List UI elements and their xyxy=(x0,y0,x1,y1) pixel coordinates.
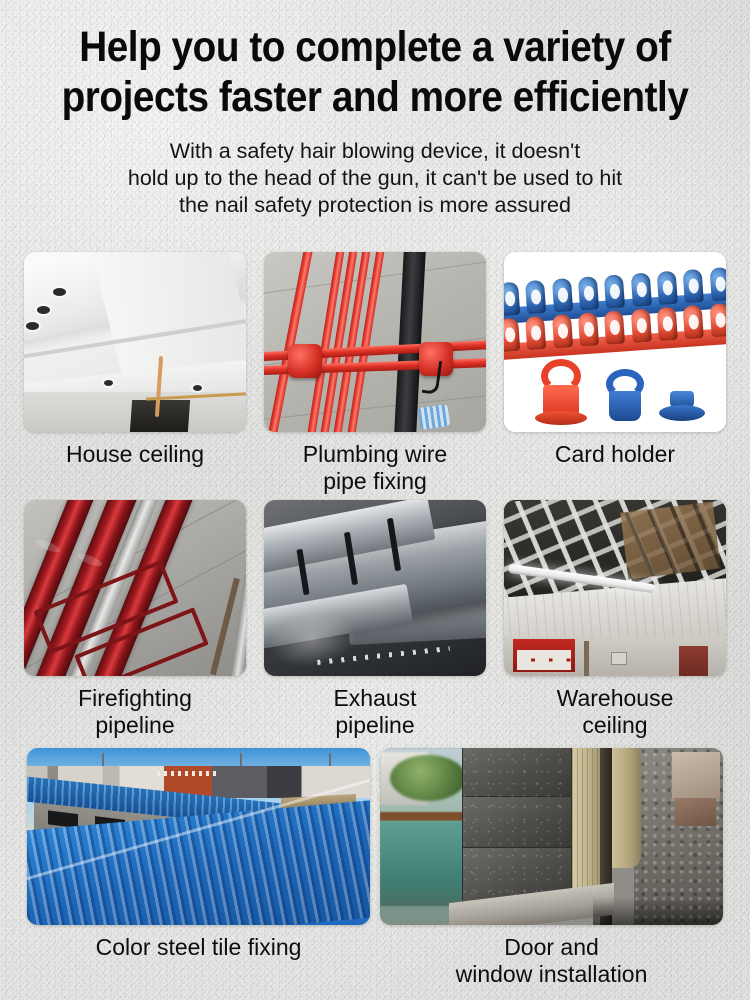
gallery-item-card-holder[interactable]: Card holder xyxy=(504,252,726,495)
cap-flange xyxy=(659,405,705,421)
gallery-item-exhaust-pipeline[interactable]: Exhaust pipeline xyxy=(264,500,486,739)
photo-house-ceiling xyxy=(24,252,246,432)
pipe-clip-icon xyxy=(709,303,726,337)
pipe-clip-icon xyxy=(552,278,573,312)
gallery-item-house-ceiling[interactable]: House ceiling xyxy=(24,252,246,495)
red-clamp-fitting xyxy=(288,344,322,378)
gallery-row-2: Firefighting pipeline Exhaust pipeline xyxy=(0,500,750,739)
block-texture xyxy=(462,748,572,907)
caption-firefighting-pipeline: Firefighting pipeline xyxy=(78,685,192,739)
wood-ceiling-panels xyxy=(620,502,721,580)
subtitle-line-1: With a safety hair blowing device, it do… xyxy=(0,138,750,165)
gallery-item-plumbing-wire-pipe-fixing[interactable]: Plumbing wire pipe fixing xyxy=(264,252,486,495)
wall-patch xyxy=(675,798,716,826)
pipe-clip-icon xyxy=(578,276,599,310)
gallery-item-door-window-installation[interactable]: Door and window installation xyxy=(380,748,723,988)
gallery-row-3: Color steel tile fixing xyxy=(0,748,750,988)
photo-card-holder xyxy=(504,252,726,432)
support-post xyxy=(584,641,589,676)
downlight-icon xyxy=(53,288,66,296)
caption-card-holder: Card holder xyxy=(555,441,675,468)
photo-plumbing-wire-pipe-fixing xyxy=(264,252,486,432)
shadow xyxy=(593,897,723,925)
gallery-item-firefighting-pipeline[interactable]: Firefighting pipeline xyxy=(24,500,246,739)
warehouse-door xyxy=(679,646,708,676)
red-clip-holder-sample xyxy=(535,359,587,421)
pipe-clip-icon xyxy=(525,280,546,314)
caption-door-window-installation: Door and window installation xyxy=(456,934,648,988)
blue-clip-holder-sample xyxy=(602,369,648,421)
clip-base-flange xyxy=(535,411,587,425)
page-subtitle: With a safety hair blowing device, it do… xyxy=(0,138,750,219)
photo-color-steel-tile-fixing xyxy=(27,748,370,925)
pipe-clip-icon xyxy=(657,271,678,305)
wall-control-box xyxy=(611,652,627,665)
pipe-clip-icon xyxy=(578,312,599,346)
gallery-row-1: House ceiling Plumbing wire pipe f xyxy=(0,252,750,495)
pipe-clip-icon xyxy=(683,269,704,303)
concrete-seam xyxy=(264,391,486,424)
downlight-icon xyxy=(104,380,113,386)
wall-patch xyxy=(672,752,720,798)
pipe-clip-icon xyxy=(504,282,520,316)
caption-plumbing-wire-pipe-fixing: Plumbing wire pipe fixing xyxy=(303,441,447,495)
pipe-clip-icon xyxy=(630,309,651,343)
gallery-item-color-steel-tile-fixing[interactable]: Color steel tile fixing xyxy=(27,748,370,988)
pipe-clip-icon xyxy=(552,314,573,348)
pipe-clip-icon xyxy=(683,305,704,339)
tree xyxy=(390,755,465,801)
headline-line-2: projects faster and more efficiently xyxy=(38,72,713,122)
water-surface xyxy=(380,821,469,906)
photo-firefighting-pipeline xyxy=(24,500,246,676)
photo-door-window-installation xyxy=(380,748,723,925)
pipe-clip-icon xyxy=(504,318,520,352)
pipe-clip-icon xyxy=(630,273,651,307)
railing xyxy=(380,812,469,821)
subtitle-line-2: hold up to the head of the gun, it can't… xyxy=(0,165,750,192)
red-conduit-pipe xyxy=(265,252,316,432)
caption-color-steel-tile-fixing: Color steel tile fixing xyxy=(96,934,302,961)
caption-exhaust-pipeline: Exhaust pipeline xyxy=(333,685,416,739)
pipe-clip-icon xyxy=(709,267,726,301)
black-cable xyxy=(422,359,443,395)
photo-exhaust-pipeline xyxy=(264,500,486,676)
photo-warehouse-ceiling xyxy=(504,500,726,676)
downlight-icon xyxy=(193,385,202,391)
clip-body xyxy=(609,391,641,421)
red-signboard xyxy=(513,639,575,672)
pipe-clip-icon xyxy=(525,316,546,350)
pipe-clip-icon xyxy=(604,274,625,308)
insulation-foam xyxy=(610,748,641,868)
coiled-wire xyxy=(418,404,451,430)
pipe-clip-icon xyxy=(604,310,625,344)
caption-warehouse-ceiling: Warehouse ceiling xyxy=(557,685,674,739)
gallery-item-warehouse-ceiling[interactable]: Warehouse ceiling xyxy=(504,500,726,739)
promo-page: Help you to complete a variety of projec… xyxy=(0,0,750,1000)
headline-line-1: Help you to complete a variety of xyxy=(38,22,713,72)
subtitle-line-3: the nail safety protection is more assur… xyxy=(0,192,750,219)
pipe-clip-icon xyxy=(657,307,678,341)
caption-house-ceiling: House ceiling xyxy=(66,441,204,468)
blue-base-cap-sample xyxy=(659,391,705,421)
page-title: Help you to complete a variety of projec… xyxy=(38,0,713,122)
